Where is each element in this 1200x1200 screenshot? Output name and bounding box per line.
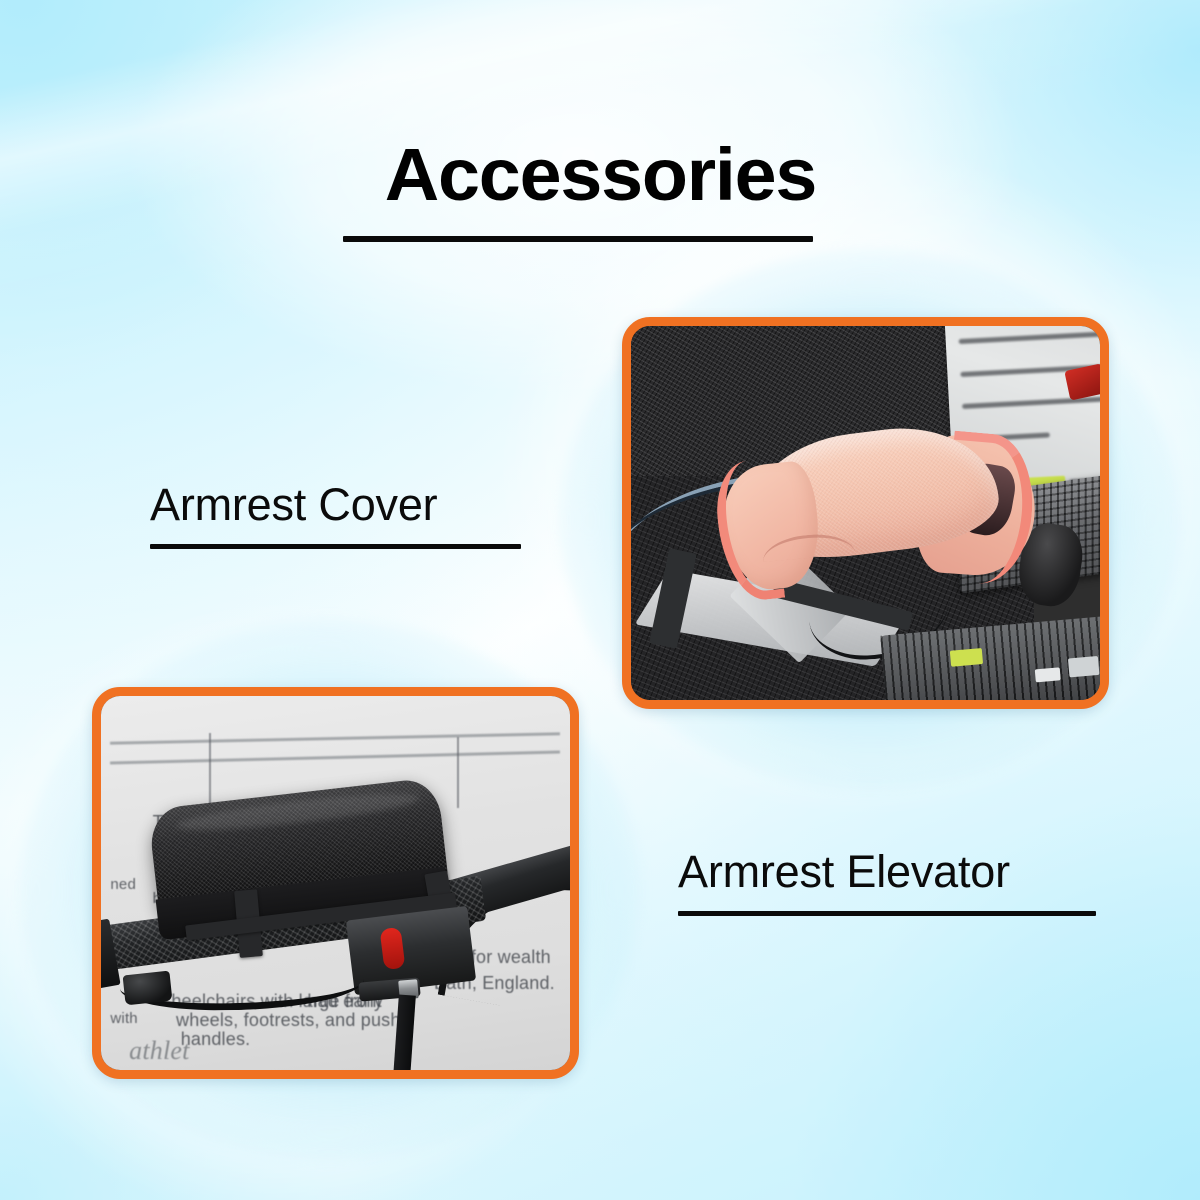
label-armrest-cover-underline (150, 544, 521, 549)
photo-card-armrest-cover[interactable] (622, 317, 1109, 709)
poster-text-line-11: with (110, 1010, 137, 1027)
height-adjust-knob (123, 970, 173, 1005)
poster-canvas: Accessories (0, 0, 1200, 1200)
label-armrest-elevator-text: Armrest Elevator (678, 849, 1096, 894)
label-armrest-cover-text: Armrest Cover (150, 482, 521, 527)
poster-text-line-9: handles. (181, 1029, 251, 1050)
label-armrest-cover: Armrest Cover (150, 482, 521, 549)
page-title: Accessories (384, 138, 815, 212)
cover-trim-right (941, 430, 1038, 587)
photo-armrest-elevator: The first p ned b d out for wealth Bath,… (101, 696, 570, 1070)
label-armrest-elevator-underline (678, 911, 1096, 916)
red-indicator (1064, 364, 1100, 401)
photo-card-armrest-elevator[interactable]: The first p ned b d out for wealth Bath,… (92, 687, 579, 1079)
page-title-underline (343, 236, 813, 242)
label-armrest-elevator: Armrest Elevator (678, 849, 1096, 916)
product-armrest-cover-pink (725, 427, 1035, 595)
poster-text-line-3: ned (110, 876, 136, 893)
poster-text-line-12: athlet (129, 1036, 189, 1066)
page-title-block: Accessories (0, 138, 1200, 212)
photo-armrest-cover (631, 326, 1100, 700)
